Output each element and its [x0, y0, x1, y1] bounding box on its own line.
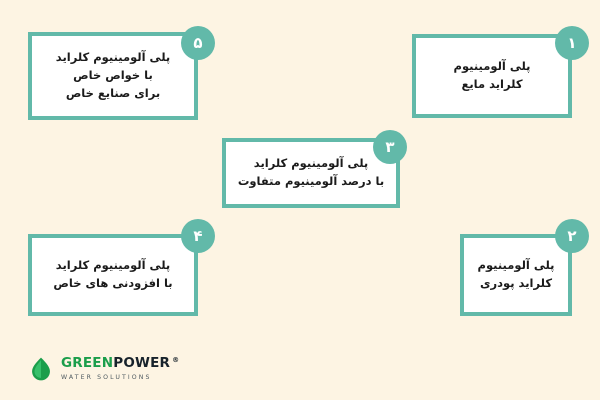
brand-name: GREENPOWER® — [61, 357, 179, 371]
brand-name-green: GREEN — [61, 357, 113, 371]
greenpower-logo-icon — [28, 356, 54, 382]
diagram-node-4[interactable]: پلی آلومینیوم کلراید با افزودنی های خاص — [28, 234, 198, 316]
brand-tagline: WATER SOLUTIONS — [61, 375, 179, 381]
diagram-node-2-badge: ۲ — [555, 219, 589, 253]
registered-trademark-icon: ® — [172, 357, 179, 364]
diagram-node-3-badge: ۳ — [373, 130, 407, 164]
diagram-canvas: پلی آلومینیوم کلراید با خواص خاص برای صن… — [0, 0, 600, 400]
brand-name-power: POWER — [113, 357, 170, 371]
diagram-node-5-label: پلی آلومینیوم کلراید با خواص خاص برای صن… — [46, 45, 180, 106]
diagram-node-2[interactable]: پلی آلومینیوم کلراید پودری — [460, 234, 572, 316]
diagram-node-1[interactable]: پلی آلومینیوم کلراید مایع — [412, 34, 572, 118]
brand-footer: GREENPOWER® WATER SOLUTIONS — [28, 356, 179, 382]
diagram-node-5[interactable]: پلی آلومینیوم کلراید با خواص خاص برای صن… — [28, 32, 198, 120]
diagram-node-1-badge: ۱ — [555, 26, 589, 60]
diagram-node-3-label: پلی آلومینیوم کلراید با درصد آلومینیوم م… — [228, 151, 394, 195]
brand-wordmark: GREENPOWER® WATER SOLUTIONS — [61, 357, 179, 381]
diagram-node-4-badge: ۴ — [181, 219, 215, 253]
diagram-node-5-badge: ۵ — [181, 26, 215, 60]
diagram-node-4-label: پلی آلومینیوم کلراید با افزودنی های خاص — [43, 253, 182, 297]
diagram-node-2-label: پلی آلومینیوم کلراید پودری — [468, 253, 565, 297]
diagram-node-1-label: پلی آلومینیوم کلراید مایع — [444, 54, 541, 98]
